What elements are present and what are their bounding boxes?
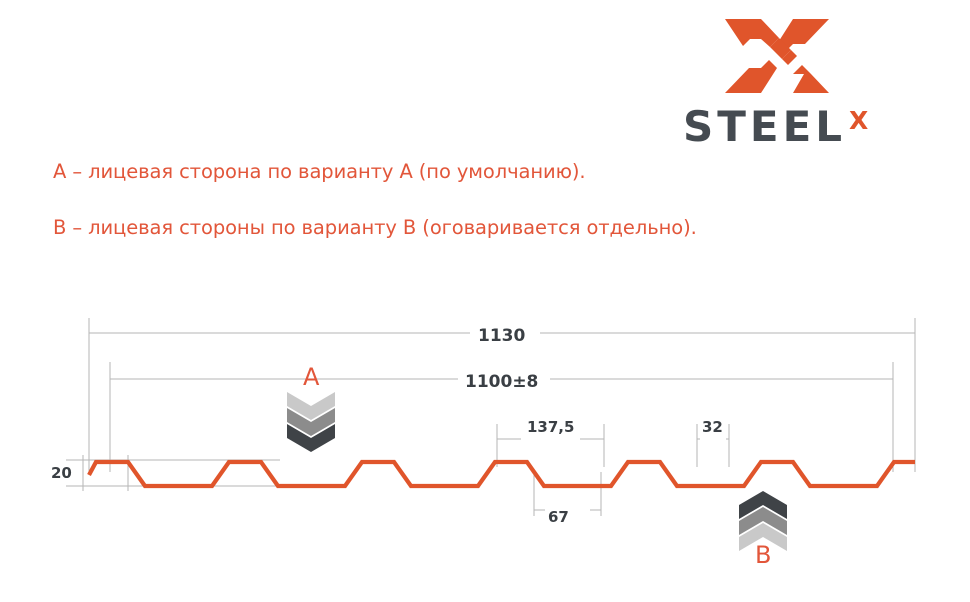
logo-wordmark: STEEL X (683, 106, 915, 152)
dimension-label-rib-top-width: 32 (702, 418, 723, 436)
dimension-label-profile-height: 20 (51, 464, 72, 482)
marker-letter-a: А (303, 363, 319, 391)
trapezoid-profile-line (89, 462, 915, 486)
chevron-down-icon (284, 390, 338, 454)
dimension-label-valley-width: 67 (548, 508, 569, 526)
dimension-label-working-width: 1100±8 (465, 372, 538, 392)
dimension-label-wave-pitch: 137,5 (527, 418, 574, 436)
legend-line-variant-a: А – лицевая сторона по варианту А (по ум… (53, 160, 586, 183)
steelx-x-mark-icon (721, 14, 833, 98)
legend-line-variant-b: В – лицевая стороны по варианту В (огова… (53, 216, 697, 239)
chevron-up-icon (736, 489, 790, 553)
logo-wordmark-superscript: X (849, 108, 868, 133)
brand-logo: STEEL X (683, 14, 915, 148)
dimension-label-total-width: 1130 (478, 326, 525, 346)
logo-wordmark-text: STEEL (683, 106, 846, 148)
